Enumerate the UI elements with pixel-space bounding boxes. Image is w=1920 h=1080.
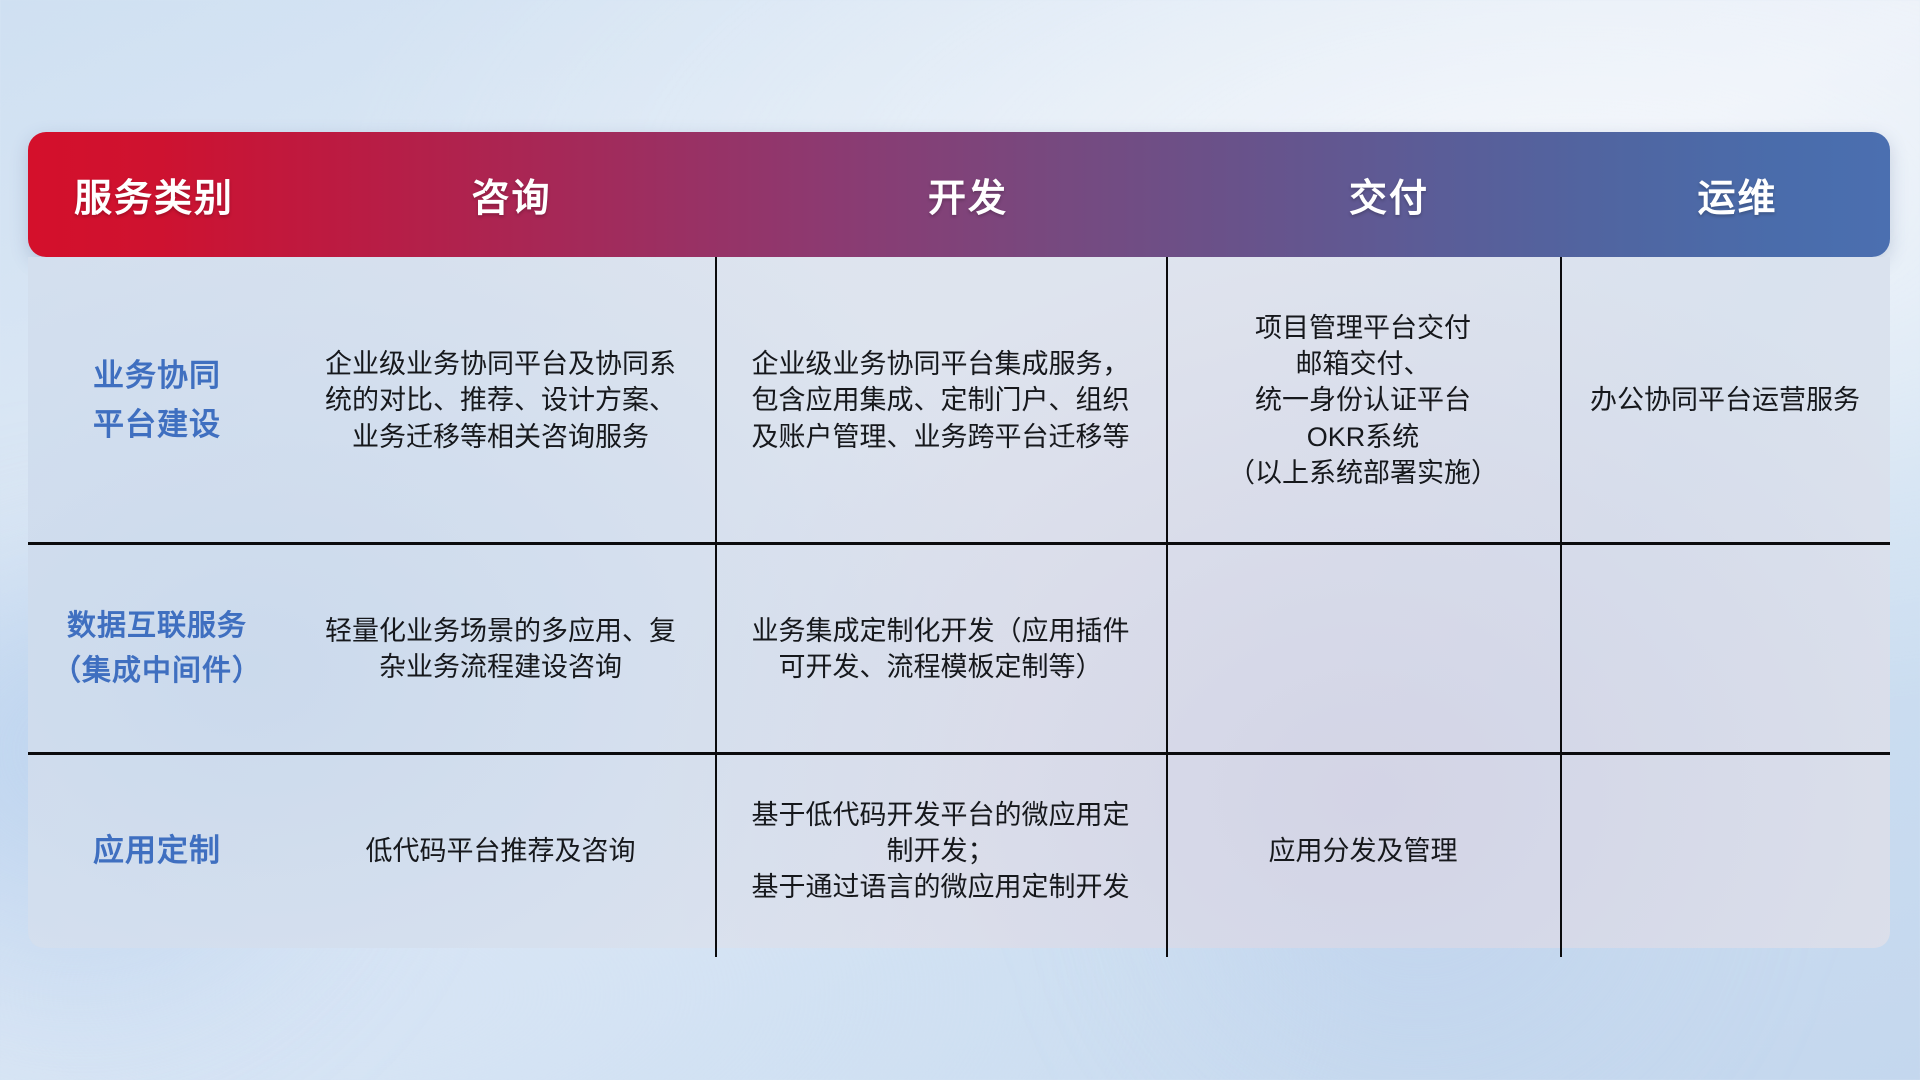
cell-operations: 办公协同平台运营服务 (1560, 257, 1890, 544)
column-header-operations: 运维 (1585, 167, 1890, 222)
cell-consulting: 低代码平台推荐及咨询 (286, 754, 715, 948)
table-row: 应用定制 低代码平台推荐及咨询 基于低代码开发平台的微应用定 制开发； 基于通过… (28, 754, 1890, 948)
column-header-service-category: 服务类别 (28, 167, 280, 222)
cell-operations (1560, 754, 1890, 948)
cell-development: 基于低代码开发平台的微应用定 制开发； 基于通过语言的微应用定制开发 (715, 754, 1166, 948)
column-header-consulting: 咨询 (280, 167, 743, 222)
cell-delivery: 项目管理平台交付 邮箱交付、 统一身份认证平台 OKR系统 （以上系统部署实施） (1166, 257, 1560, 544)
cell-category: 数据互联服务 （集成中间件） (28, 544, 286, 754)
cell-delivery: 应用分发及管理 (1166, 754, 1560, 948)
table-row: 业务协同 平台建设 企业级业务协同平台及协同系 统的对比、推荐、设计方案、 业务… (28, 257, 1890, 544)
column-divider (1166, 257, 1168, 957)
cell-development: 业务集成定制化开发（应用插件 可开发、流程模板定制等） (715, 544, 1166, 754)
column-divider (715, 257, 717, 957)
cell-category: 业务协同 平台建设 (28, 257, 286, 544)
row-divider (28, 542, 1890, 545)
row-divider (28, 752, 1890, 755)
column-header-development: 开发 (743, 167, 1193, 222)
cell-delivery (1166, 544, 1560, 754)
cell-consulting: 轻量化业务场景的多应用、复 杂业务流程建设咨询 (286, 544, 715, 754)
table-body: 业务协同 平台建设 企业级业务协同平台及协同系 统的对比、推荐、设计方案、 业务… (28, 257, 1890, 948)
service-category-table: 服务类别 咨询 开发 交付 运维 业务协同 平台建设 企业级业务协同平台及协同系… (28, 132, 1890, 948)
column-header-delivery: 交付 (1193, 167, 1585, 222)
cell-operations (1560, 544, 1890, 754)
cell-development: 企业级业务协同平台集成服务， 包含应用集成、定制门户、组织 及账户管理、业务跨平… (715, 257, 1166, 544)
cell-consulting: 企业级业务协同平台及协同系 统的对比、推荐、设计方案、 业务迁移等相关咨询服务 (286, 257, 715, 544)
cell-category: 应用定制 (28, 754, 286, 948)
table-header-row: 服务类别 咨询 开发 交付 运维 (28, 132, 1890, 257)
column-divider (1560, 257, 1562, 957)
table-row: 数据互联服务 （集成中间件） 轻量化业务场景的多应用、复 杂业务流程建设咨询 业… (28, 544, 1890, 754)
